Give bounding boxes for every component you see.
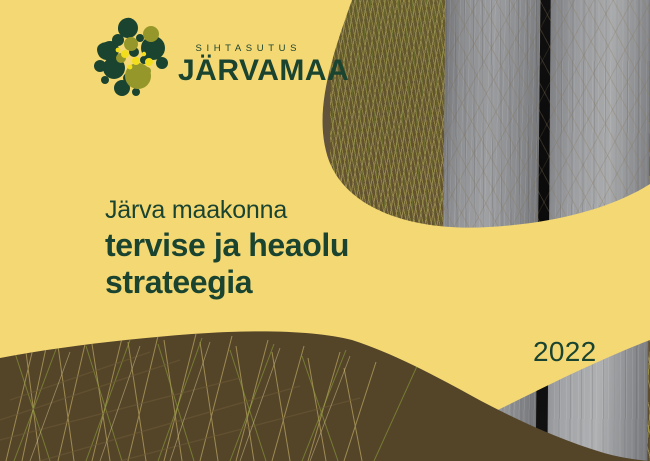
- title-line-bold-2: strateegia: [105, 264, 505, 300]
- title-line-bold-1: tervise ja heaolu: [105, 227, 505, 263]
- logo-subtitle: SIHTASUTUS: [178, 44, 302, 54]
- cover-page: SIHTASUTUS JÄRVAMAA Järva maakonna tervi…: [0, 0, 650, 461]
- logo-wordmark: SIHTASUTUS JÄRVAMAA: [178, 44, 302, 86]
- jarvamaa-molecule-icon: [92, 14, 184, 106]
- title-line-pre: Järva maakonna: [105, 196, 505, 226]
- jarvamaa-logo[interactable]: SIHTASUTUS JÄRVAMAA: [92, 14, 302, 106]
- year-label: 2022: [533, 336, 597, 368]
- logo-name: JÄRVAMAA: [178, 56, 302, 87]
- page-title: Järva maakonna tervise ja heaolu stratee…: [105, 196, 505, 300]
